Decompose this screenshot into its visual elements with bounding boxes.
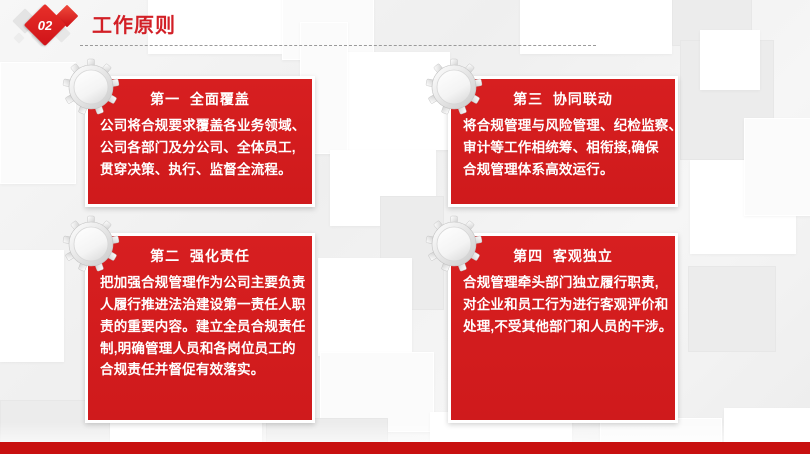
card-body: 合规管理牵头部门独立履行职责, 对企业和员工行为进行客观评价和 处理,不受其他部…: [451, 272, 675, 338]
card-title: 第二 强化责任: [88, 246, 312, 266]
card-title: 第四 客观独立: [451, 246, 675, 266]
footer-gradient: [0, 422, 810, 442]
card-body-line: 将合规管理与风险管理、纪检监察、: [463, 115, 665, 137]
card-body-line: 合规管理牵头部门独立履行职责,: [463, 272, 665, 294]
card-body-line: 公司各部门及分公司、全体员工,: [100, 137, 302, 159]
card-body-line: 对企业和员工行为进行客观评价和: [463, 294, 665, 316]
header-divider: [80, 45, 596, 46]
card-body-line: 制,明确管理人员和各岗位员工的: [100, 338, 302, 360]
card-body: 把加强合规管理作为公司主要负责 人履行推进法治建设第一责任人职 责的重要内容。建…: [88, 272, 312, 381]
card-body-line: 贯穿决策、执行、监督全流程。: [100, 159, 302, 181]
gray-diamond-icon: [13, 32, 24, 43]
card-body: 公司将合规要求覆盖各业务领域、 公司各部门及分公司、全体员工, 贯穿决策、执行、…: [88, 115, 312, 181]
footer-bar: [0, 442, 810, 454]
card-body-line: 把加强合规管理作为公司主要负责: [100, 272, 302, 294]
card-body-line: 责的重要内容。建立全员合规责任: [100, 316, 302, 338]
principle-card-4[interactable]: 第四 客观独立 合规管理牵头部门独立履行职责, 对企业和员工行为进行客观评价和 …: [448, 233, 678, 423]
card-body-line: 人履行推进法治建设第一责任人职: [100, 294, 302, 316]
card-body-line: 合规管理体系高效运行。: [463, 159, 665, 181]
section-number-badge: 02: [12, 2, 88, 52]
card-body-line: 审计等工作相统筹、相衔接,确保: [463, 137, 665, 159]
card-body: 将合规管理与风险管理、纪检监察、 审计等工作相统筹、相衔接,确保 合规管理体系高…: [451, 115, 675, 181]
card-body-line: 处理,不受其他部门和人员的干涉。: [463, 316, 665, 338]
card-body-line: 公司将合规要求覆盖各业务领域、: [100, 115, 302, 137]
principle-card-1[interactable]: 第一 全面覆盖 公司将合规要求覆盖各业务领域、 公司各部门及分公司、全体员工, …: [85, 76, 315, 207]
page-title: 工作原则: [92, 9, 176, 38]
section-number-label: 02: [30, 10, 60, 40]
principle-card-3[interactable]: 第三 协同联动 将合规管理与风险管理、纪检监察、 审计等工作相统筹、相衔接,确保…: [448, 76, 678, 207]
card-title: 第一 全面覆盖: [88, 89, 312, 109]
slide-header: 02 工作原则: [0, 0, 810, 56]
principle-card-2[interactable]: 第二 强化责任 把加强合规管理作为公司主要负责 人履行推进法治建设第一责任人职 …: [85, 233, 315, 423]
slide-canvas: 02 工作原则: [0, 0, 810, 454]
card-body-line: 合规责任并督促有效落实。: [100, 359, 302, 381]
card-title: 第三 协同联动: [451, 89, 675, 109]
